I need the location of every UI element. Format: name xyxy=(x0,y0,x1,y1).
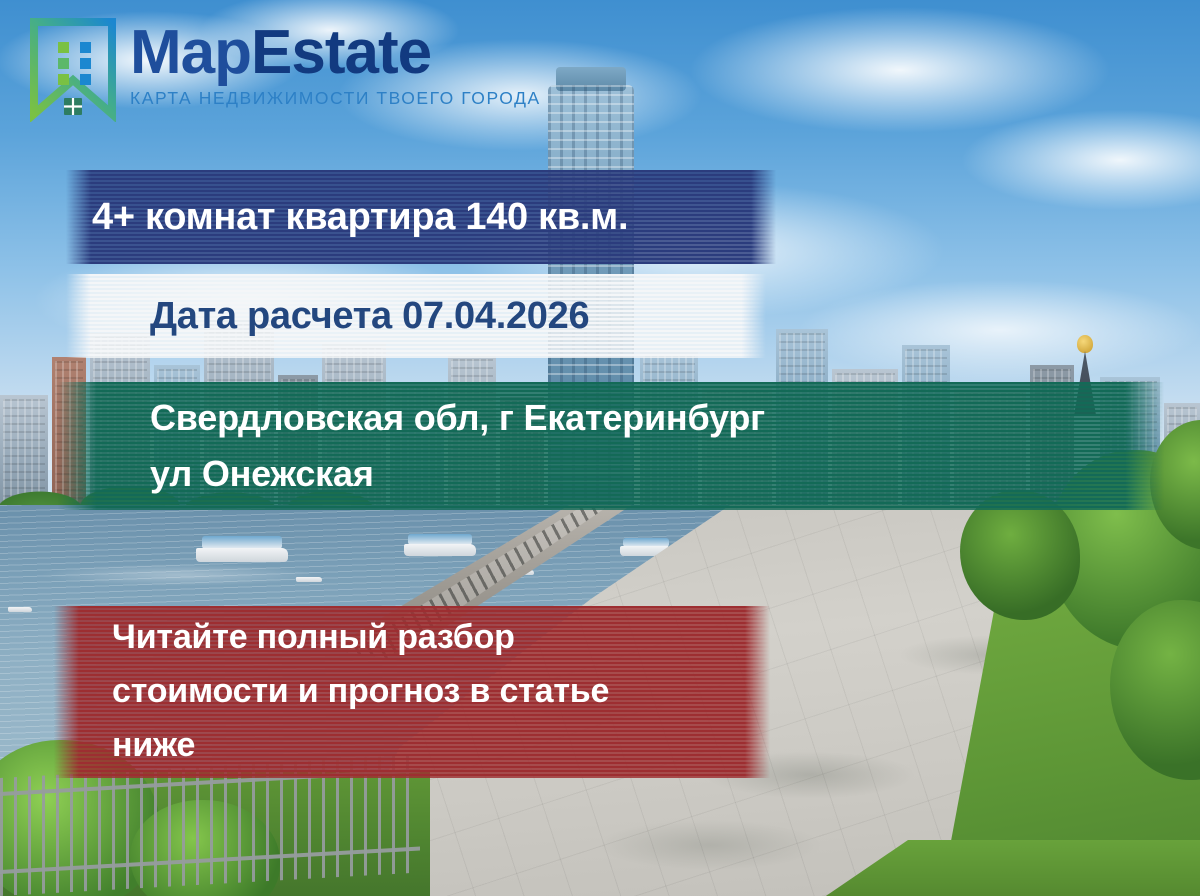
brand-title: MapEstate xyxy=(130,22,541,84)
address-line-2: ул Онежская xyxy=(150,446,1164,502)
brand-tagline: КАРТА НЕДВИЖИМОСТИ ТВОЕГО ГОРОДА xyxy=(130,88,541,109)
brand-wordmark: MapEstate КАРТА НЕДВИЖИМОСТИ ТВОЕГО ГОРО… xyxy=(130,18,541,109)
bookmark-building-icon xyxy=(30,18,116,122)
brand-logo[interactable]: MapEstate КАРТА НЕДВИЖИМОСТИ ТВОЕГО ГОРО… xyxy=(30,18,541,122)
promo-card: MapEstate КАРТА НЕДВИЖИМОСТИ ТВОЕГО ГОРО… xyxy=(0,0,1200,896)
small-boat xyxy=(296,572,322,582)
address-banner: Свердловская обл, г Екатеринбург ул Онеж… xyxy=(58,382,1164,510)
river-boat xyxy=(196,536,288,562)
golden-dome xyxy=(1077,335,1093,353)
rooms-banner: 4+ комнат квартира 140 кв.м. xyxy=(66,170,776,264)
date-banner: Дата расчета 07.04.2026 xyxy=(66,274,766,358)
brand-title-map: Map xyxy=(130,18,251,87)
small-boat xyxy=(8,602,32,612)
date-banner-text: Дата расчета 07.04.2026 xyxy=(66,295,766,338)
river-boat xyxy=(404,534,476,556)
cta-line-2: стоимости и прогноз в статье xyxy=(112,665,770,719)
cta-banner[interactable]: Читайте полный разбор стоимости и прогно… xyxy=(54,606,770,778)
rooms-banner-text: 4+ комнат квартира 140 кв.м. xyxy=(66,196,776,239)
address-line-1: Свердловская обл, г Екатеринбург xyxy=(150,390,1164,446)
address-banner-text: Свердловская обл, г Екатеринбург ул Онеж… xyxy=(58,390,1164,502)
cta-banner-text: Читайте полный разбор стоимости и прогно… xyxy=(54,611,770,772)
brand-title-estate: Estate xyxy=(251,18,431,87)
cta-line-1: Читайте полный разбор xyxy=(112,611,770,665)
cta-line-3: ниже xyxy=(112,719,770,773)
